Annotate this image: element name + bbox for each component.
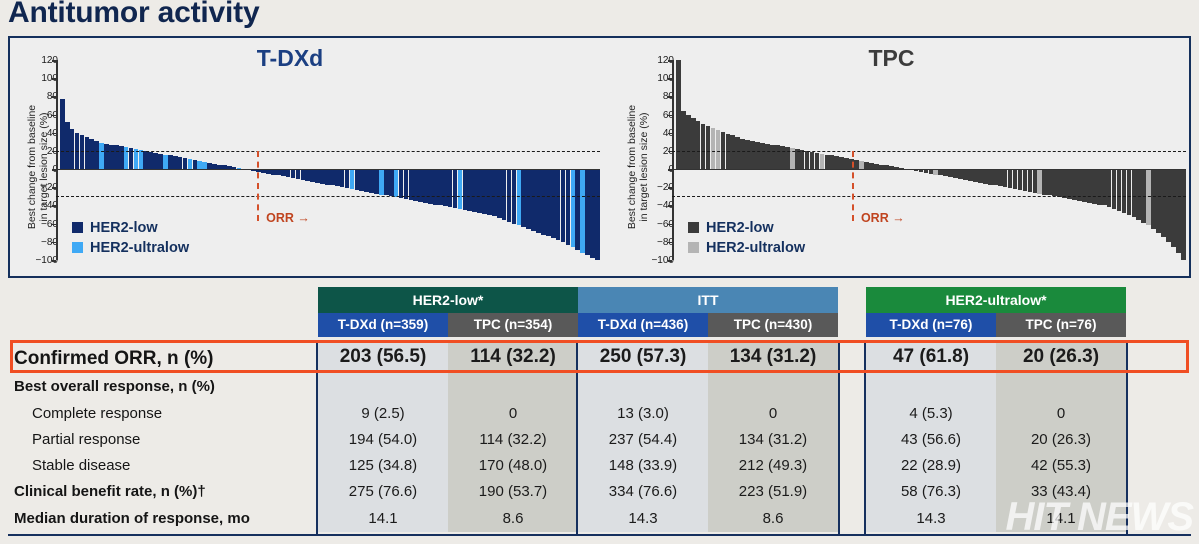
table-cell: 8.6 [708, 508, 838, 530]
legend-swatch-icon [72, 242, 83, 253]
y-axis-tick [668, 187, 672, 189]
y-axis-tick [668, 242, 672, 244]
slide: Antitumor activity T-DXd Best change fro… [0, 0, 1199, 544]
zero-line [56, 169, 600, 170]
table-cell: 148 (33.9) [578, 455, 708, 477]
y-axis-tick [52, 133, 56, 135]
y-axis-tick [52, 78, 56, 80]
table-cell: 43 (56.6) [866, 429, 996, 451]
table-column-separator [864, 340, 866, 534]
table-cell: 0 [996, 403, 1126, 425]
table-cell: 20 (26.3) [996, 429, 1126, 451]
y-axis-tick [668, 60, 672, 62]
y-axis-tick [52, 60, 56, 62]
table-cell: 0 [708, 403, 838, 425]
table-cell: 22 (28.9) [866, 455, 996, 477]
table-cell: 170 (48.0) [448, 455, 578, 477]
y-axis-tick [668, 260, 672, 262]
table-cell: 194 (54.0) [318, 429, 448, 451]
table-cell: 9 (2.5) [318, 403, 448, 425]
chart-tdxd-yticks: 120100806040200−20−40−60−80−100 [24, 38, 58, 288]
legend-label: HER2-ultralow [706, 240, 805, 256]
chart-tdxd-legend: HER2-lowHER2-ultralow [72, 220, 189, 260]
y-axis-tick [668, 78, 672, 80]
table-row-label: Confirmed ORR, n (%) [14, 348, 214, 370]
chart-tpc-ylabel-line1: Best change from baseline [626, 52, 639, 282]
legend-swatch-icon [688, 242, 699, 253]
y-axis-tick [668, 224, 672, 226]
table-cell: 134 (31.2) [708, 346, 838, 368]
table-column-header: TPC (n=76) [996, 313, 1126, 337]
y-axis-tick [668, 115, 672, 117]
legend-item: HER2-ultralow [688, 240, 805, 256]
table-cell: 114 (32.2) [448, 429, 578, 451]
table-row-label: Clinical benefit rate, n (%)† [14, 483, 206, 500]
table-cell: 14.1 [318, 508, 448, 530]
chart-panel: T-DXd Best change from baseline in targe… [8, 36, 1191, 278]
y-axis-tick [52, 115, 56, 117]
table-cell: 334 (76.6) [578, 481, 708, 503]
y-axis-line [56, 60, 58, 260]
table-column-header: T-DXd (n=76) [866, 313, 996, 337]
table-cell: 250 (57.3) [578, 346, 708, 368]
table-cell: 42 (55.3) [996, 455, 1126, 477]
table-cell: 13 (3.0) [578, 403, 708, 425]
table-column-header: T-DXd (n=436) [578, 313, 708, 337]
y-axis-tick [52, 242, 56, 244]
page-title: Antitumor activity [8, 0, 259, 30]
chart-tdxd-orr-label: ORR → [266, 211, 310, 225]
table-cell: 212 (49.3) [708, 455, 838, 477]
reference-line--30 [56, 196, 600, 197]
watermark: HIT NEWS [1005, 495, 1193, 540]
reference-line-20 [672, 151, 1186, 152]
table-row-label: Stable disease [32, 457, 130, 474]
chart-tpc-yticks: 120100806040200−20−40−60−80−100 [640, 38, 674, 288]
reference-line--30 [672, 196, 1186, 197]
table-cell: 47 (61.8) [866, 346, 996, 368]
y-axis-tick [52, 187, 56, 189]
y-axis-tick [52, 224, 56, 226]
table-cell: 275 (76.6) [318, 481, 448, 503]
table-cell: 237 (54.4) [578, 429, 708, 451]
orr-threshold-line [852, 151, 854, 221]
table-row-label: Best overall response, n (%) [14, 378, 215, 395]
chart-tpc-orr-label: ORR → [861, 211, 905, 225]
table-row-label: Partial response [32, 431, 140, 448]
table-column-header: TPC (n=354) [448, 313, 578, 337]
waterfall-bar [595, 169, 600, 260]
table-cell: 0 [448, 403, 578, 425]
table-cell: 8.6 [448, 508, 578, 530]
table-cell: 14.3 [866, 508, 996, 530]
orr-threshold-line [257, 151, 259, 221]
legend-item: HER2-low [688, 220, 805, 236]
legend-item: HER2-low [72, 220, 189, 236]
y-axis-line [672, 60, 674, 260]
y-axis-tick [668, 96, 672, 98]
table-cell: 4 (5.3) [866, 403, 996, 425]
table-column-header: TPC (n=430) [708, 313, 838, 337]
legend-swatch-icon [688, 222, 699, 233]
y-axis-tick [52, 260, 56, 262]
y-axis-tick [52, 96, 56, 98]
reference-line-20 [56, 151, 600, 152]
legend-swatch-icon [72, 222, 83, 233]
table-cell: 58 (76.3) [866, 481, 996, 503]
zero-line [672, 169, 1186, 170]
y-axis-tick [668, 133, 672, 135]
legend-item: HER2-ultralow [72, 240, 189, 256]
table-cell: 203 (56.5) [318, 346, 448, 368]
table-column-separator [316, 340, 318, 534]
y-axis-tick [668, 205, 672, 207]
table-column-header: T-DXd (n=359) [318, 313, 448, 337]
table-cell: 125 (34.8) [318, 455, 448, 477]
table-cell: 114 (32.2) [448, 346, 578, 368]
chart-tpc: TPC Best change from baseline in target … [610, 38, 1193, 276]
chart-tpc-legend: HER2-lowHER2-ultralow [688, 220, 805, 260]
table-column-separator [838, 340, 840, 534]
table-row-label: Median duration of response, mo [14, 510, 250, 527]
waterfall-bar [1181, 169, 1186, 260]
table-cell: 14.3 [578, 508, 708, 530]
table-group-header: HER2-ultralow* [866, 287, 1126, 313]
table-group-header: ITT [578, 287, 838, 313]
legend-label: HER2-low [90, 220, 158, 236]
table-cell: 223 (51.9) [708, 481, 838, 503]
y-axis-tick [52, 205, 56, 207]
legend-label: HER2-low [706, 220, 774, 236]
table-group-header: HER2-low* [318, 287, 578, 313]
table-column-separator [576, 340, 578, 534]
legend-label: HER2-ultralow [90, 240, 189, 256]
table-cell: 190 (53.7) [448, 481, 578, 503]
table-row-label: Complete response [32, 405, 162, 422]
chart-tdxd: T-DXd Best change from baseline in targe… [10, 38, 610, 276]
table-cell: 134 (31.2) [708, 429, 838, 451]
table-cell: 20 (26.3) [996, 346, 1126, 368]
